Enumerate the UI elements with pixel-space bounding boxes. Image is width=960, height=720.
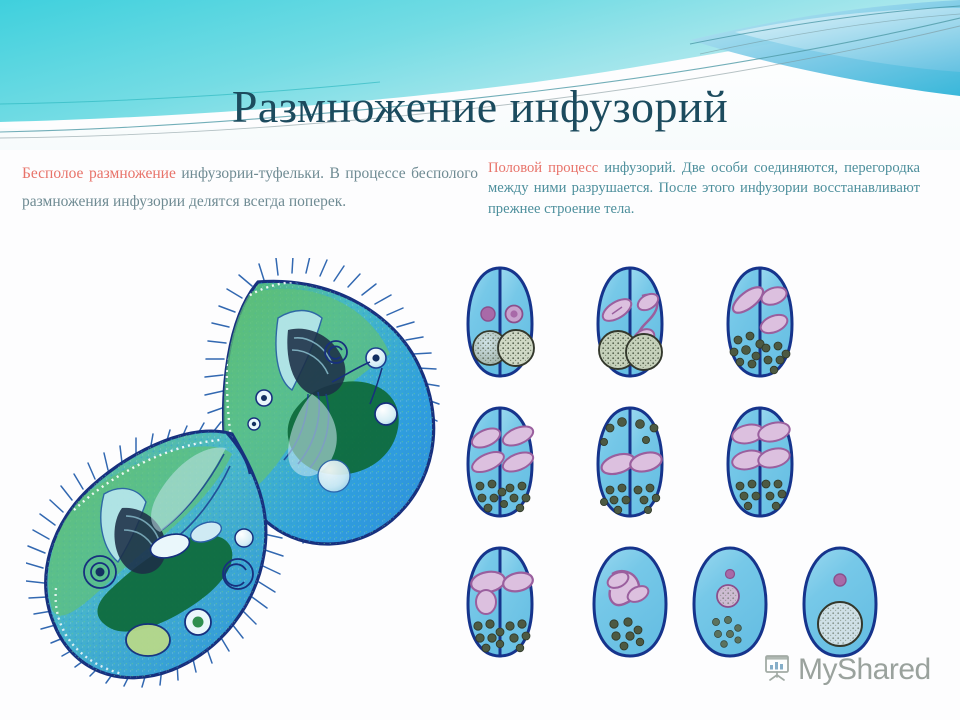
presentation-chart-icon (762, 652, 792, 687)
paragraph-sexual: Половой процесс инфузорий. Две особи сое… (488, 158, 920, 219)
paragraph-asexual: Бесполое размножение инфузории-туфельки.… (22, 160, 478, 216)
paragraph-sexual-highlight: Половой процесс (488, 160, 598, 176)
slide-title: Размножение инфузорий (0, 84, 960, 130)
paragraph-asexual-highlight: Бесполое размножение (22, 165, 176, 182)
watermark-myshared: MyShared (762, 652, 931, 687)
slide-canvas: Размножение инфузорий Бесполое размножен… (0, 0, 960, 720)
figure-paramecium-division (26, 258, 470, 708)
watermark-label: MyShared (798, 653, 931, 687)
figure-conjugation-stages (462, 252, 902, 700)
